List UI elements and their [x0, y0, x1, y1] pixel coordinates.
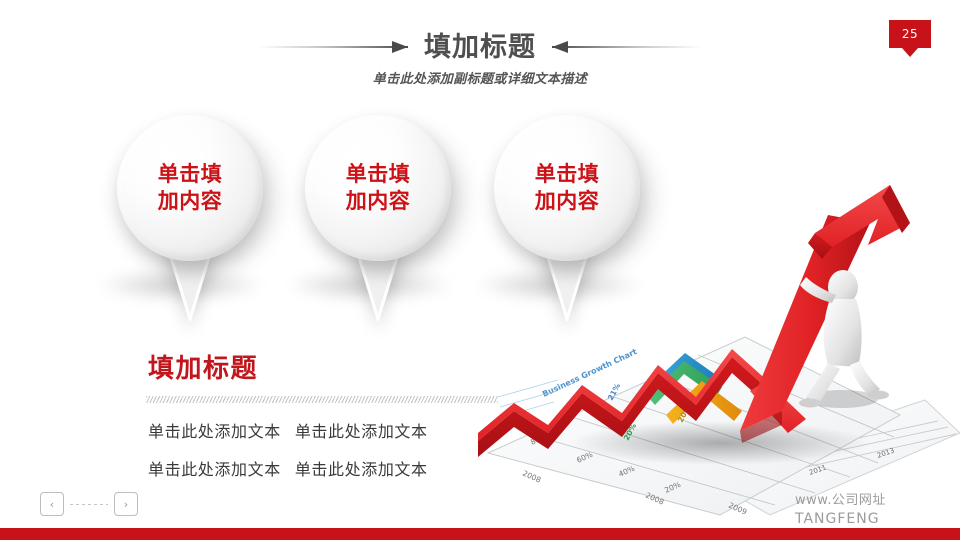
- body-cell: 单击此处添加文本: [148, 418, 281, 442]
- next-button[interactable]: ›: [114, 492, 138, 516]
- svg-text:2008: 2008: [521, 469, 542, 485]
- body-cell: 单击此处添加文本: [295, 418, 428, 442]
- bubble-line-2: 加内容: [158, 188, 223, 215]
- bubble-line-1: 单击填: [346, 161, 411, 188]
- watermark: www.公司网址 TANGFENG: [795, 492, 886, 528]
- section-heading: 填加标题: [148, 348, 258, 385]
- chevron-left-icon: ‹: [50, 499, 54, 510]
- svg-text:2009: 2009: [727, 501, 748, 517]
- bubble-line-1: 单击填: [158, 161, 223, 188]
- title-arrow-right-icon: [552, 40, 702, 54]
- title-arrow-left-icon: [258, 40, 408, 54]
- bubble-label: 单击填 加内容: [117, 115, 263, 261]
- page-subtitle: 单击此处添加副标题或详细文本描述: [0, 68, 960, 87]
- section-body: 单击此处添加文本 单击此处添加文本 单击此处添加文本 单击此处添加文本: [148, 418, 508, 494]
- body-cell: 单击此处添加文本: [295, 456, 428, 480]
- footer-bar: [0, 528, 960, 540]
- body-row: 单击此处添加文本 单击此处添加文本: [148, 456, 508, 480]
- section-divider: [146, 396, 498, 403]
- bubble-line-2: 加内容: [346, 188, 411, 215]
- slide-navigation: ‹ ›: [40, 492, 138, 516]
- bubble-line-2: 加内容: [535, 188, 600, 215]
- nav-connector: [70, 504, 108, 505]
- bubble-2[interactable]: 单击填 加内容: [305, 115, 451, 321]
- chevron-right-icon: ›: [124, 499, 128, 510]
- body-cell: 单击此处添加文本: [148, 456, 281, 480]
- body-row: 单击此处添加文本 单击此处添加文本: [148, 418, 508, 442]
- page-title: 填加标题: [424, 34, 536, 61]
- prev-button[interactable]: ‹: [40, 492, 64, 516]
- bubble-label: 单击填 加内容: [494, 115, 640, 261]
- slide-canvas: 25 填加标题 单击此处添加副标题或详细文本描述: [0, 0, 960, 540]
- watermark-url: www.公司网址: [795, 492, 886, 510]
- title-row: 填加标题: [0, 30, 960, 64]
- bubble-label: 单击填 加内容: [305, 115, 451, 261]
- watermark-brand: TANGFENG: [795, 510, 886, 529]
- bubble-3[interactable]: 单击填 加内容: [494, 115, 640, 321]
- bubble-line-1: 单击填: [535, 161, 600, 188]
- bubble-1[interactable]: 单击填 加内容: [117, 115, 263, 321]
